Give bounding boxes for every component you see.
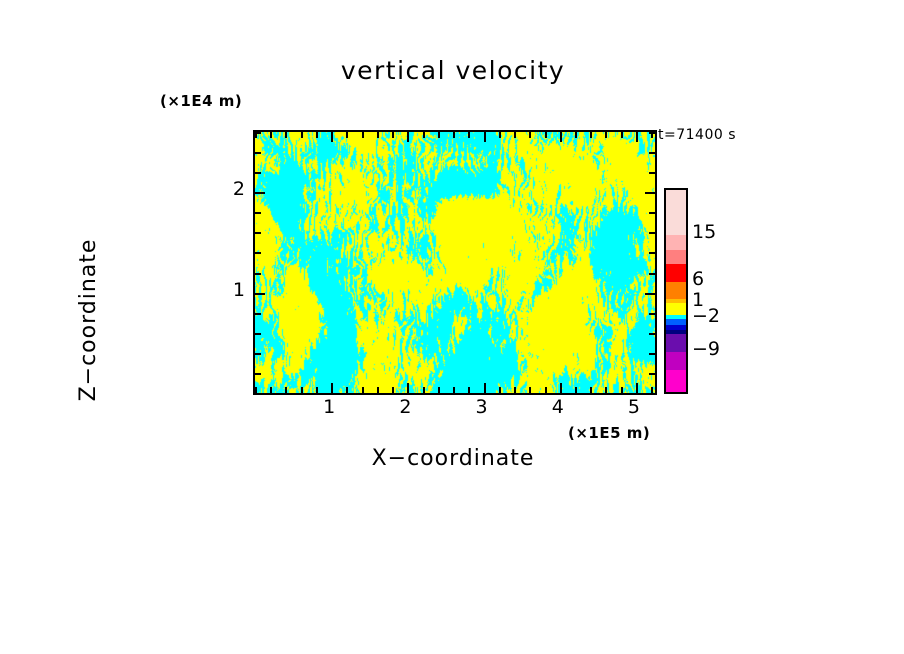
timestamp-annotation: t=71400 s (658, 127, 736, 143)
colorbar-band (666, 352, 686, 371)
colorbar (664, 188, 688, 394)
colorbar-band (666, 370, 686, 393)
x-axis-title: X−coordinate (253, 446, 653, 471)
page-title: vertical velocity (253, 56, 653, 85)
colorbar-band (666, 250, 686, 265)
contour-plot-figure: vertical velocity (×1E4 m) (×1E5 m) t=71… (0, 0, 904, 654)
y-axis-title: Z−coordinate (76, 110, 101, 530)
colorbar-band (666, 235, 686, 250)
x-axis-unit-label: (×1E5 m) (568, 424, 650, 442)
x-tick-label: 2 (390, 396, 420, 418)
colorbar-tick-label: −9 (692, 338, 720, 360)
y-tick-label: 2 (215, 178, 245, 200)
y-tick-label: 1 (215, 279, 245, 301)
colorbar-tick-label: 6 (692, 268, 704, 290)
colorbar-tick-label: 15 (692, 221, 716, 243)
colorbar-band (666, 334, 686, 352)
colorbar-band (666, 190, 686, 236)
x-tick-label: 3 (467, 396, 497, 418)
colorbar-band (666, 282, 686, 299)
y-axis-unit-label: (×1E4 m) (160, 92, 242, 110)
colorbar-band (666, 264, 686, 283)
velocity-field-canvas (255, 132, 655, 393)
plot-area (253, 130, 657, 395)
x-tick-label: 5 (619, 396, 649, 418)
colorbar-tick-label: −2 (692, 305, 720, 327)
x-tick-label: 4 (543, 396, 573, 418)
x-tick-label: 1 (314, 396, 344, 418)
